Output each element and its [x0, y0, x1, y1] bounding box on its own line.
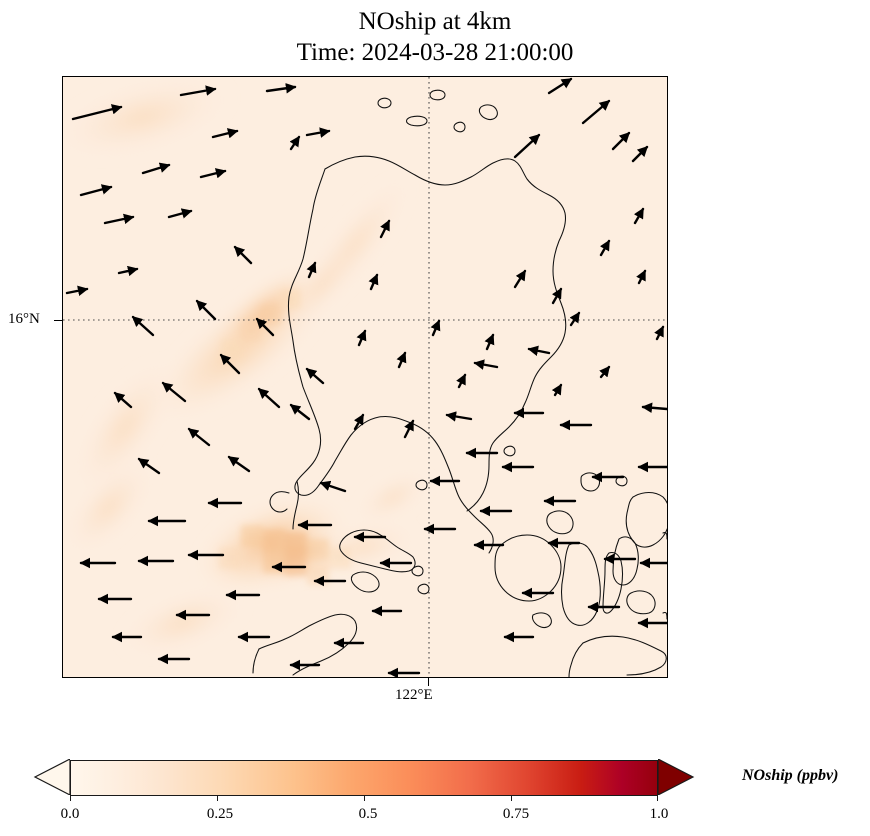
colorbar-tick-label-2: 0.5 [359, 806, 378, 823]
colorbar-tick-label-3: 0.75 [503, 806, 529, 823]
figure-title: NOship at 4km Time: 2024-03-28 21:00:00 [0, 6, 870, 68]
map-plot-area [63, 77, 667, 677]
colorbar-label: NOship (ppbv) [742, 767, 838, 785]
title-line-variable: NOship at 4km [0, 6, 870, 37]
title-line-time: Time: 2024-03-28 21:00:00 [0, 37, 870, 68]
colorbar-extend-min-arrow [33, 759, 70, 795]
figure-canvas: NOship at 4km Time: 2024-03-28 21:00:00 [0, 0, 870, 836]
x-tick-label-122e: 122°E [395, 687, 433, 704]
x-tick-mark [428, 678, 429, 686]
colorbar-tick-4 [657, 796, 658, 801]
colorbar-tick-0 [70, 796, 71, 801]
colorbar-tick-label-0: 0.0 [61, 806, 80, 823]
colorbar[interactable] [70, 760, 658, 796]
map-field-and-overlays [63, 77, 667, 677]
colorbar-tick-label-1: 0.25 [207, 806, 233, 823]
y-tick-label-16n: 16°N [8, 311, 40, 328]
map-axes[interactable] [62, 76, 668, 678]
colorbar-tick-2 [364, 796, 365, 801]
y-tick-mark [54, 320, 62, 321]
colorbar-tick-1 [217, 796, 218, 801]
colorbar-gradient [70, 760, 658, 796]
colorbar-tick-label-4: 1.0 [650, 806, 669, 823]
colorbar-extend-max-arrow [658, 759, 695, 795]
colorbar-tick-3 [511, 796, 512, 801]
